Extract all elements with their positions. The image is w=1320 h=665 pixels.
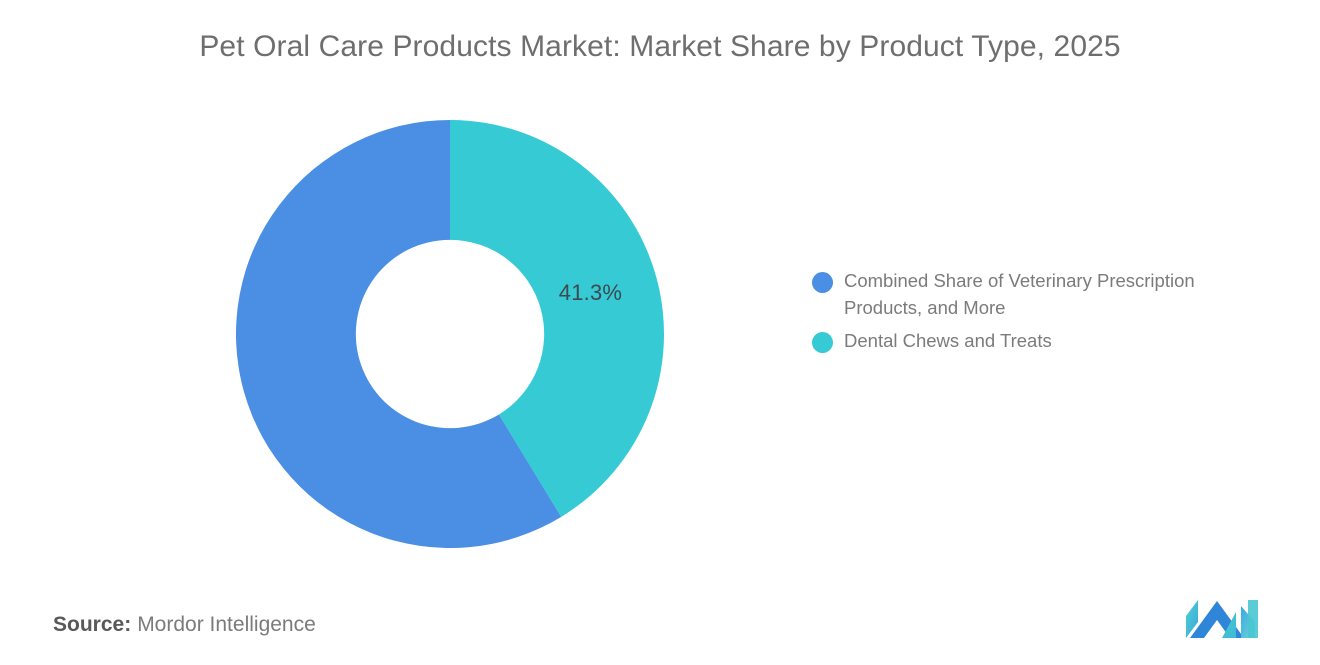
legend-swatch-icon [812,272,833,293]
legend-item-label: Combined Share of Veterinary Prescriptio… [844,268,1274,322]
source-label: Source: [53,613,131,636]
donut-slice-value-label: 41.3% [523,280,658,306]
source-line: Source:Mordor Intelligence [53,613,316,637]
mordor-intelligence-logo-icon [1186,598,1258,638]
source-value: Mordor Intelligence [137,613,316,636]
page-title: Pet Oral Care Products Market: Market Sh… [0,30,1320,64]
donut-chart-svg [236,120,664,548]
chart-legend: Combined Share of Veterinary Prescriptio… [812,268,1292,360]
legend-item-combined-share[interactable]: Combined Share of Veterinary Prescriptio… [812,268,1292,322]
donut-chart [236,120,664,548]
chart-canvas: Pet Oral Care Products Market: Market Sh… [0,0,1320,665]
legend-swatch-icon [812,332,833,353]
legend-item-dental-chews[interactable]: Dental Chews and Treats [812,328,1292,355]
legend-item-label: Dental Chews and Treats [844,328,1052,355]
